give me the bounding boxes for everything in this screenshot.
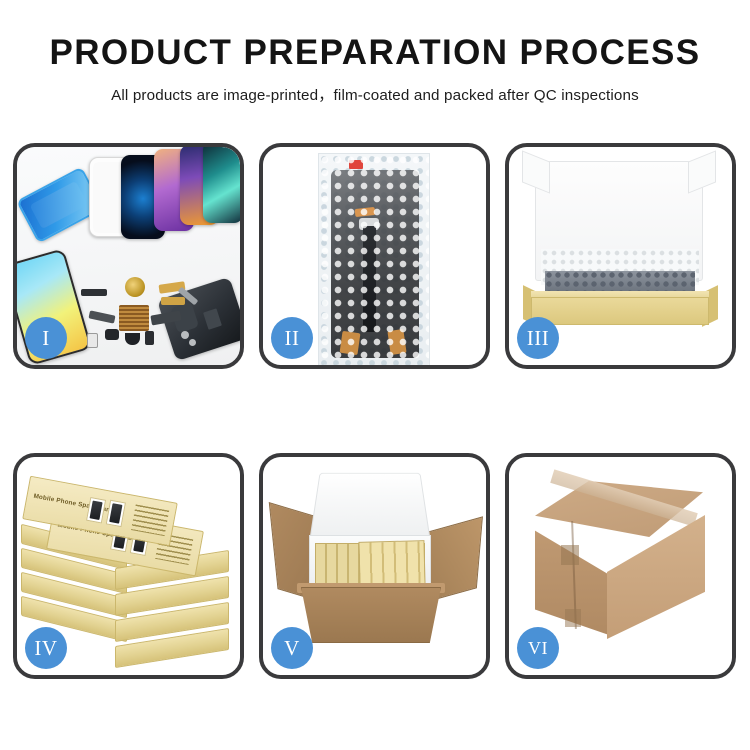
retail-box-top-window-1: [86, 497, 106, 524]
lcd-tape-left: [340, 331, 361, 355]
page-title: PRODUCT PREPARATION PROCESS: [0, 32, 750, 74]
step-panel-1: I: [13, 143, 244, 369]
mesh-part: [119, 305, 149, 331]
sim-tray-part: [87, 333, 98, 348]
lcd-flex-cable: [363, 226, 376, 332]
step-badge-2: II: [271, 317, 313, 359]
gold-boxes-row-front: [358, 540, 425, 586]
speaker-part: [125, 333, 140, 345]
gold-box-front: [531, 297, 709, 325]
carton-flap-tab-upper: [561, 545, 579, 565]
carton-flap-tab-lower: [565, 609, 581, 627]
screw-part-2: [189, 339, 196, 346]
step-badge-4: IV: [25, 627, 67, 669]
lcd-red-label: [349, 160, 363, 169]
flex-cable-part-3: [88, 310, 115, 323]
flex-cable-part-4: [150, 310, 181, 325]
process-steps-grid: I II: [13, 143, 737, 679]
step-badge-3: III: [517, 317, 559, 359]
step-badge-6: VI: [517, 627, 559, 669]
header: PRODUCT PREPARATION PROCESS All products…: [0, 32, 750, 105]
step-panel-6: VI: [505, 453, 736, 679]
step-badge-5: V: [271, 627, 313, 669]
step-panel-2: II: [259, 143, 490, 369]
step-panel-3: III: [505, 143, 736, 369]
button-part: [145, 331, 154, 345]
product-preparation-process-page: PRODUCT PREPARATION PROCESS All products…: [0, 0, 750, 750]
retail-box-top-spec-lines: [131, 504, 169, 536]
coil-part: [125, 277, 145, 297]
chip-part: [81, 289, 107, 296]
page-subtitle: All products are image-printed，film-coat…: [0, 83, 750, 105]
camera-module-part: [105, 329, 119, 340]
foam-box-lid: [309, 473, 430, 539]
carton-right-face: [607, 515, 705, 639]
step-panel-5: V: [259, 453, 490, 679]
bubble-wrap-bag: [318, 153, 430, 365]
lcd-tape-right: [387, 329, 406, 355]
screw-part-1: [181, 331, 189, 339]
spare-parts-cluster: [77, 275, 197, 357]
flex-cable-part-2: [161, 297, 185, 305]
teal-stripe-phone: [203, 147, 240, 223]
step-badge-1: I: [25, 317, 67, 359]
retail-box-top-window-2: [106, 500, 126, 527]
step-panel-4: Mobile Phone Spare Parts Mobile Phone Sp…: [13, 453, 244, 679]
carton-front-panel: [301, 587, 441, 643]
